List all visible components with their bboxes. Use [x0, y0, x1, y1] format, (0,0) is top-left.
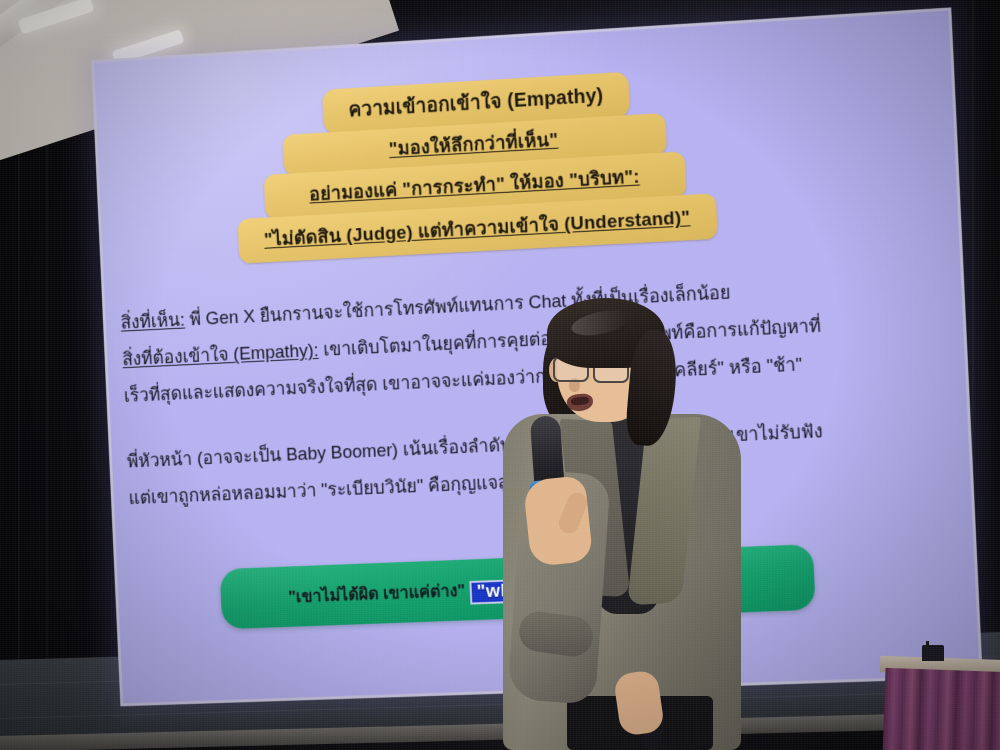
line-label: สิ่งที่ต้องเข้าใจ (Empathy): [122, 339, 319, 369]
line-label: สิ่งที่เห็น: [120, 309, 185, 332]
table-skirt [883, 668, 1000, 750]
table-object [922, 645, 944, 661]
presentation-photo: ความเข้าอกเข้าใจ (Empathy) "มองให้ลึกกว่… [0, 0, 1000, 750]
banner-underlined-text: "ไม่ตัดสิน (Judge) แต่ทำความเข้าใจ (Unde… [264, 208, 691, 251]
banner-underlined-text: "มองให้ลึกกว่าที่เห็น" [389, 130, 559, 160]
speaker [497, 296, 747, 750]
